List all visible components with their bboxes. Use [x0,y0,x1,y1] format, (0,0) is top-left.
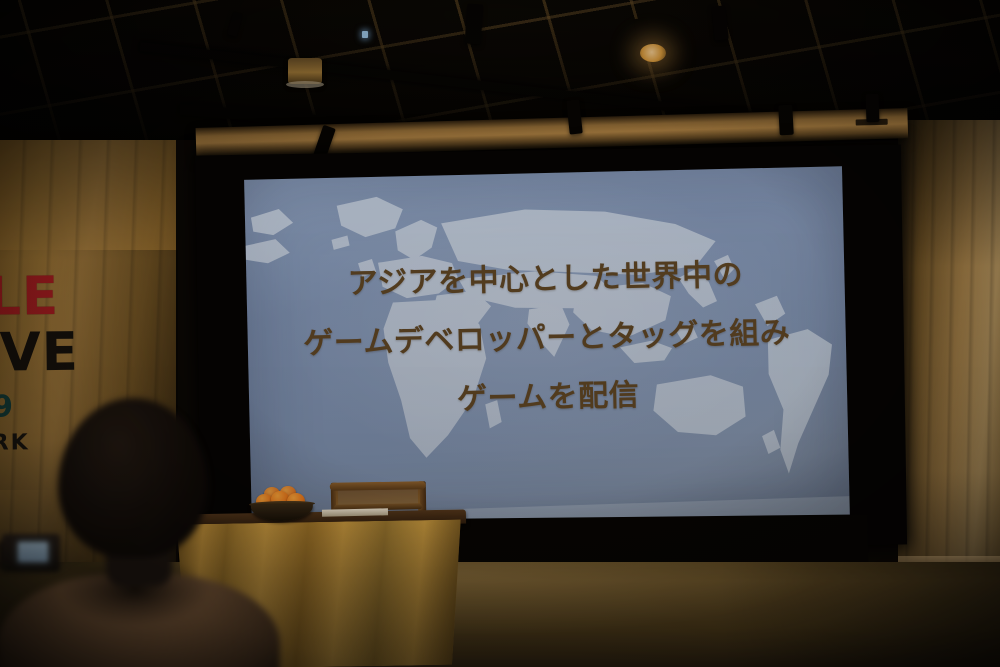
stage-light-fixture [778,105,794,136]
world-map-background [244,166,850,530]
audience-member-silhouette [20,398,260,667]
warm-spotlight-icon [640,44,666,62]
status-led-icon [362,31,368,38]
banner-line-1: CLE [0,270,59,324]
projection-screen-surface: アジアを中心とした世界中の ゲームデベロッパーとタッグを組み ゲームを配信 [244,166,850,530]
curtain-right-shading [898,120,1000,608]
banner-line-2: TIVE [0,326,79,380]
banner-num-suffix: 9 [0,389,16,424]
stage-light-fixture [866,94,880,122]
hanging-fixture [465,3,484,44]
banner-line-3: 109 [0,392,16,423]
downlight-can-icon [288,58,322,84]
presentation-photo-scene: CLE TIVE 109 WORK [0,0,1000,667]
person-head [58,398,208,558]
paper-sheet [322,508,388,516]
chair-top-rail [330,481,426,491]
